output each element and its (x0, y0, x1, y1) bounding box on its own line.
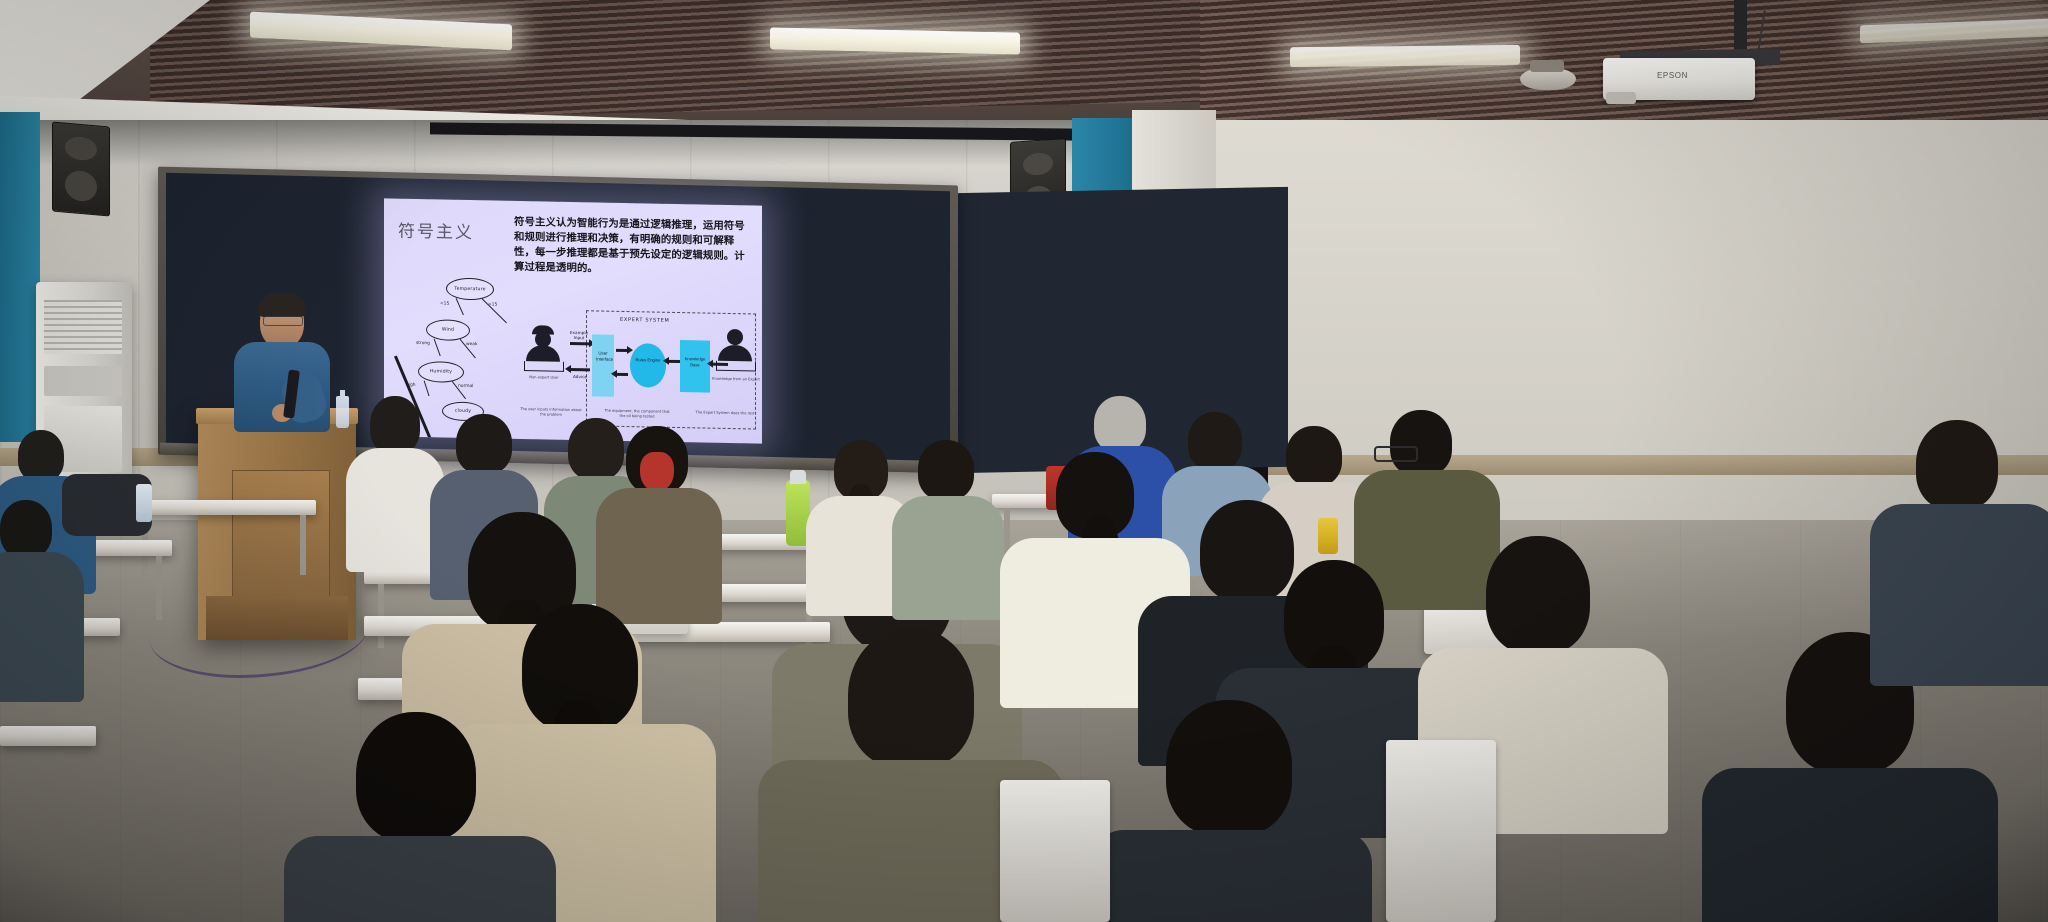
chair-front-right (1386, 740, 1496, 922)
student-far-right (1880, 420, 2040, 680)
student-head (456, 414, 512, 474)
podium-front-panel (232, 470, 330, 598)
tree-label-lt15: <15 (440, 301, 449, 306)
student-front-4 (1116, 700, 1346, 922)
student-head (18, 430, 64, 482)
student-torso (284, 836, 556, 922)
tree-edge-hum-left (423, 381, 429, 397)
ac-control-panel[interactable] (44, 366, 122, 396)
desk-left-a (130, 500, 316, 515)
water-bottle-desk-left (136, 484, 152, 522)
student-head (1166, 700, 1292, 836)
chair-front-center (1000, 780, 1110, 922)
lecture-hall-photo: EPSON 符号主义 符号主义认为智能行为是通过逻辑推理，运用符号和规则进行推理… (0, 0, 2048, 922)
student-front-2 (786, 628, 1036, 922)
tree-edge-left (455, 298, 463, 315)
desk-leg (156, 556, 162, 620)
tree-edge-wind-left (433, 339, 440, 356)
tree-node-wind: Wind (426, 319, 470, 341)
student-head (0, 500, 52, 558)
knowledge-base-box: Knowledge Base (680, 340, 710, 393)
arrow-advice-label: Advice (568, 374, 592, 380)
student-head-gray-hair (1094, 396, 1146, 452)
rules-engine-label: Rules Engine (635, 357, 661, 363)
student-mid-right-2 (896, 440, 996, 600)
tree-node-root: Temperature (446, 278, 494, 301)
smoke-detector-icon (1520, 68, 1576, 90)
student-torso (1090, 830, 1372, 922)
arrow-example-input (570, 342, 590, 345)
slide-paragraph: 符号主义认为智能行为是通过逻辑推理，运用符号和规则进行推理和决策，有明确的规则和… (514, 215, 754, 280)
student-torso (1870, 504, 2048, 686)
eyeglasses-right (1374, 446, 1418, 462)
student-head (848, 628, 974, 768)
user-interface-label: User Interface (596, 350, 610, 362)
expert-head (727, 329, 743, 345)
tree-label-strong: strong (416, 341, 430, 346)
tree-label-weak: weak (466, 342, 478, 347)
student-head (1390, 410, 1452, 476)
podium-base (206, 596, 348, 640)
student-torso (0, 552, 84, 702)
presenter-hair (258, 293, 306, 317)
student-torso (1702, 768, 1998, 922)
presenter (232, 296, 332, 426)
tree-node-humidity: Humidity (418, 361, 464, 383)
arrow-engine-to-ui (616, 373, 628, 376)
arrow-ui-to-engine (616, 349, 628, 352)
ceiling-light-3 (1290, 45, 1520, 67)
user-interface-box: User Interface (592, 334, 614, 396)
student-torso (892, 496, 1004, 620)
student-front-3 (310, 712, 530, 922)
hair-tie (640, 452, 674, 492)
slide-title: 符号主义 (398, 217, 474, 243)
arrow-input-label: Example Input (566, 330, 592, 341)
rules-engine-node: Rules Engine (630, 343, 666, 388)
student-head (1916, 420, 1998, 510)
expert-laptop-icon (716, 361, 756, 372)
student-head (1286, 426, 1342, 486)
student-head (918, 440, 974, 500)
student-head (370, 396, 420, 454)
presenter-glasses (263, 316, 303, 326)
blue-wall-column-left (0, 112, 40, 442)
expert-system-title: EXPERT SYSTEM (620, 317, 670, 324)
desk-leg (300, 515, 306, 575)
knowledge-base-label: Knowledge Base (683, 356, 707, 368)
student-head (1188, 412, 1242, 470)
tree-label-high: high (406, 383, 416, 388)
desk-left-d (0, 726, 96, 746)
user-body (526, 345, 560, 362)
tree-label-normal: normal (458, 384, 473, 389)
projector-lens (1606, 92, 1636, 104)
laptop-icon (524, 361, 564, 372)
ac-vent-grill (44, 300, 122, 354)
projector-brand-label: EPSON (1657, 71, 1688, 80)
wall-speaker-left (52, 121, 110, 216)
expert-caption: Knowledge from an Expert (712, 377, 760, 383)
arrow-kb-to-engine (668, 360, 680, 363)
green-bottle-cap (790, 470, 806, 484)
arrow-advice (570, 368, 590, 371)
user-caption: Non-expert User (520, 375, 568, 381)
tree-label-gt15: >15 (488, 302, 497, 307)
student-head (1486, 536, 1590, 654)
student-head (356, 712, 476, 842)
